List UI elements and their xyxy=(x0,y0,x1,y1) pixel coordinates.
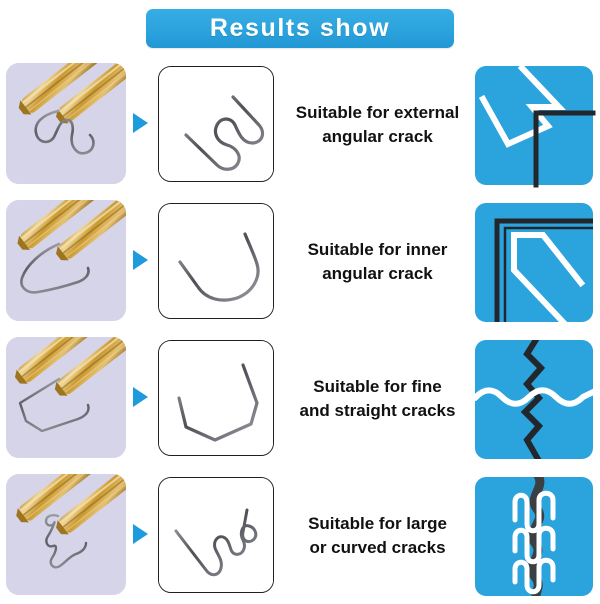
welder-tool-photo-external xyxy=(6,63,126,184)
banner-area: Results show xyxy=(0,0,600,56)
external-angular-crack-icon xyxy=(475,66,593,185)
caption-line-1: Suitable for external xyxy=(296,101,459,124)
staple-shape-wave xyxy=(158,477,274,593)
page-title: Results show xyxy=(210,16,390,41)
caption-line-2: angular crack xyxy=(308,262,448,285)
row-inner-angular: Suitable for inner angular crack xyxy=(0,193,600,330)
rows-container: Suitable for external angular crack xyxy=(0,56,600,600)
step-arrow-icon xyxy=(133,524,148,544)
welder-tool-photo-wave xyxy=(6,474,126,595)
row-external-angular: Suitable for external angular crack xyxy=(0,56,600,193)
caption-line-1: Suitable for fine xyxy=(300,375,456,398)
caption-fine-straight: Suitable for fine and straight cracks xyxy=(285,330,470,467)
results-show-banner: Results show xyxy=(146,9,454,48)
caption-line-2: angular crack xyxy=(296,125,459,148)
step-arrow-icon xyxy=(133,387,148,407)
welder-tool-photo-inner xyxy=(6,200,126,321)
inner-angular-crack-icon xyxy=(475,203,593,322)
step-arrow-icon xyxy=(133,113,148,133)
staple-shape-u xyxy=(158,203,274,319)
caption-line-2: or curved cracks xyxy=(308,536,447,559)
caption-line-1: Suitable for inner xyxy=(308,238,448,261)
large-curved-crack-icon xyxy=(475,477,593,596)
caption-inner-angular: Suitable for inner angular crack xyxy=(285,193,470,330)
step-arrow-icon xyxy=(133,250,148,270)
caption-large-curved: Suitable for large or curved cracks xyxy=(285,467,470,604)
row-large-curved: Suitable for large or curved cracks xyxy=(0,467,600,604)
caption-external-angular: Suitable for external angular crack xyxy=(285,56,470,193)
welder-tool-photo-flat xyxy=(6,337,126,458)
staple-shape-w xyxy=(158,66,274,182)
row-fine-straight: Suitable for fine and straight cracks xyxy=(0,330,600,467)
caption-line-2: and straight cracks xyxy=(300,399,456,422)
staple-shape-flat xyxy=(158,340,274,456)
caption-line-1: Suitable for large xyxy=(308,512,447,535)
fine-straight-crack-icon xyxy=(475,340,593,459)
